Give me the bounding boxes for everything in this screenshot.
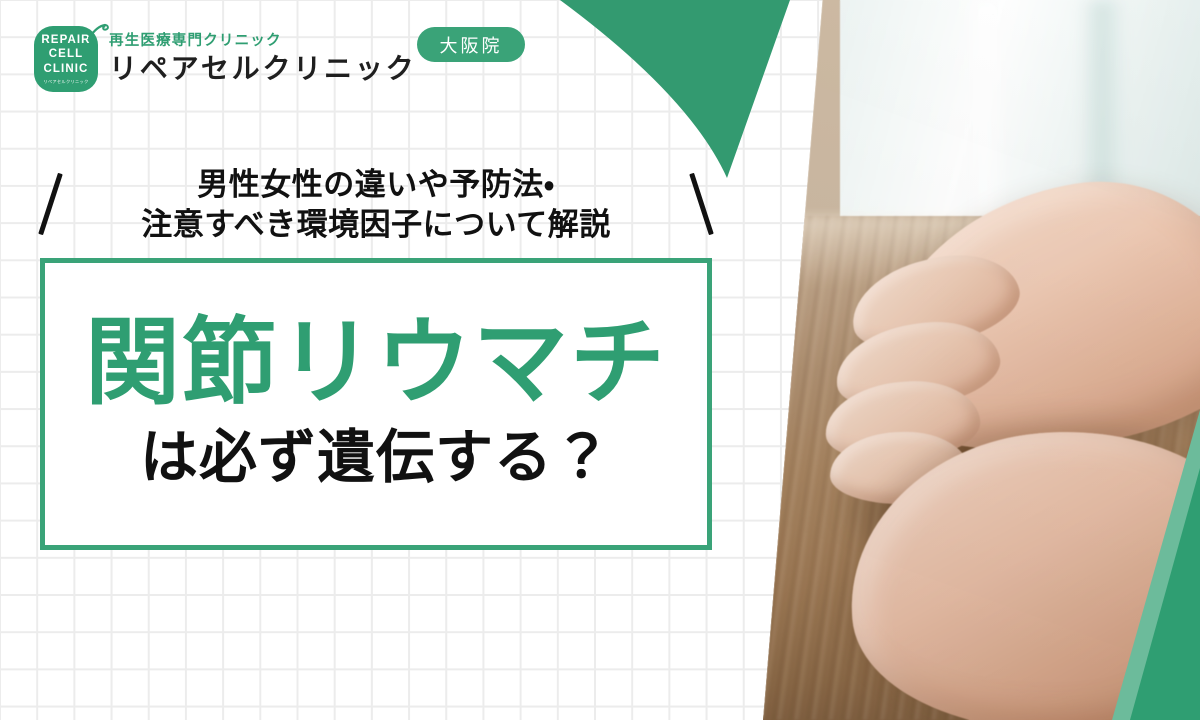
logo-line-cell: CELL	[49, 47, 83, 62]
title-main-text: 関節リウマチ	[85, 315, 667, 412]
logo-subtext: リペアセルクリニック	[43, 79, 88, 85]
title-box: 関節リウマチ は必ず遺伝する？	[40, 258, 712, 550]
banner-canvas: REPAIR CELL CLINIC リペアセルクリニック 再生医療専門クリニッ…	[0, 0, 1200, 720]
clinic-logo-mark[interactable]: REPAIR CELL CLINIC リペアセルクリニック	[34, 26, 98, 92]
logo-line-repair: REPAIR	[41, 33, 90, 48]
sprout-leaf-icon	[87, 21, 109, 41]
logo-line-clinic: CLINIC	[44, 62, 89, 77]
slash-right-decoration	[689, 173, 714, 235]
brand-name: リペアセルクリニック	[109, 54, 416, 83]
subheading-block: 男性女性の違いや予防法・ 注意すべき環境因子について解説	[40, 160, 712, 250]
branch-badge-label: 大阪院	[440, 32, 503, 58]
subheading-line-2: 注意すべき環境因子について解説	[141, 205, 610, 245]
subheading-line-1: 男性女性の違いや予防法・	[141, 165, 610, 205]
brand-text-block: 再生医療専門クリニック リペアセルクリニック	[109, 34, 416, 83]
subheading-lines: 男性女性の違いや予防法・ 注意すべき環境因子について解説	[141, 165, 610, 245]
title-sub-text: は必ず遺伝する？	[140, 428, 612, 489]
brand-lockup[interactable]: REPAIR CELL CLINIC リペアセルクリニック 再生医療専門クリニッ…	[34, 26, 416, 92]
slash-left-decoration	[38, 173, 63, 235]
branch-badge[interactable]: 大阪院	[417, 27, 525, 62]
brand-tagline: 再生医療専門クリニック	[109, 34, 416, 50]
